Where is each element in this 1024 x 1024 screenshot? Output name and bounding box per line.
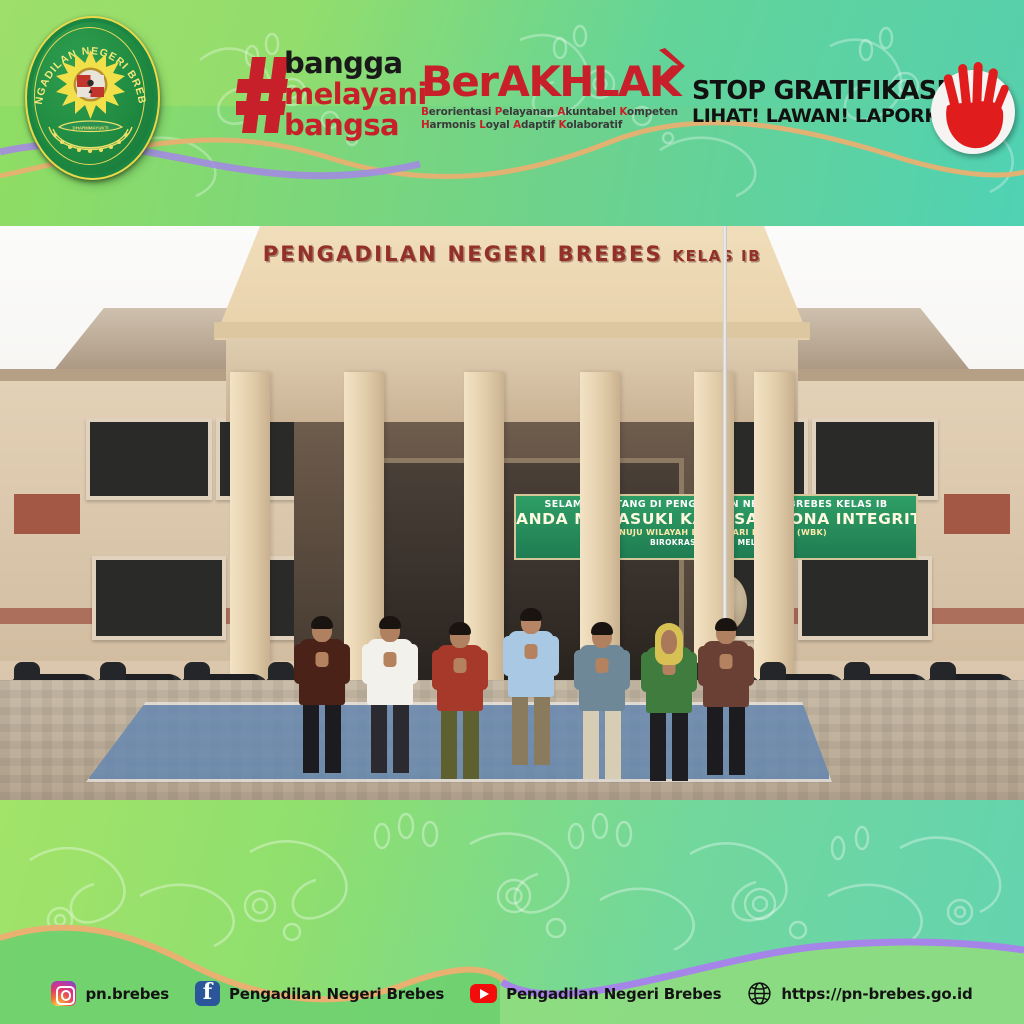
pediment-edge xyxy=(214,322,810,338)
social-link-facebook[interactable]: Pengadilan Negeri Brebes xyxy=(195,981,444,1006)
social-links-bar: pn.brebes Pengadilan Negeri Brebes Penga… xyxy=(0,981,1024,1006)
berakhlak-sub-line-2: Harmonis Loyal Adaptif Kolaboratif xyxy=(421,119,681,132)
person-legs xyxy=(512,695,550,765)
person-thumbs-up-hand xyxy=(384,652,397,667)
berakhlak-title: BerAKHLAK xyxy=(421,60,681,104)
footer-wave xyxy=(0,904,1024,1024)
person-legs xyxy=(583,709,621,779)
youtube-label: Pengadilan Negeri Brebes xyxy=(506,985,721,1003)
facebook-label: Pengadilan Negeri Brebes xyxy=(229,985,444,1003)
person-arm-right xyxy=(407,644,418,684)
person-arm-left xyxy=(362,644,373,684)
social-link-youtube[interactable]: Pengadilan Negeri Brebes xyxy=(470,984,721,1003)
person-head xyxy=(661,630,677,654)
person-arm-left xyxy=(641,652,652,692)
person-arm-right xyxy=(477,650,488,690)
logo-sunburst-icon xyxy=(56,50,125,119)
globe-icon[interactable] xyxy=(747,981,772,1006)
person-thumbs-up-hand xyxy=(720,654,733,669)
person-arm-left xyxy=(698,646,709,686)
red-handprint-icon xyxy=(933,62,1013,154)
window-upper-right-1 xyxy=(812,418,938,500)
social-link-instagram[interactable]: pn.brebes xyxy=(51,981,168,1006)
berakhlak-sub-line-1: Berorientasi Pelayanan Akuntabel Kompete… xyxy=(421,106,681,119)
hashtag-icon xyxy=(236,55,288,135)
wall-accent-right xyxy=(944,494,1010,534)
person-7-batik-brown xyxy=(700,620,752,786)
window-upper-left-1 xyxy=(86,418,212,500)
facebook-icon[interactable] xyxy=(195,981,220,1006)
person-thumbs-up-hand xyxy=(316,652,329,667)
person-hair xyxy=(715,618,737,631)
berakhlak-subtitle: Berorientasi Pelayanan Akuntabel Kompete… xyxy=(421,106,681,131)
bangga-line-3: bangsa xyxy=(284,110,427,141)
person-2-white-shirt xyxy=(364,618,416,786)
logo-chain-wreath xyxy=(45,123,136,163)
person-arm-right xyxy=(339,644,350,684)
person-arm-right xyxy=(743,646,754,686)
person-6-hijab-green xyxy=(643,626,695,786)
person-legs xyxy=(650,711,688,781)
building-name: PENGADILAN NEGERI BREBES xyxy=(263,242,663,266)
poster-header: PENGADILAN NEGERI BREBES DHARMMAYUKTI xyxy=(0,0,1024,226)
wall-accent-left xyxy=(14,494,80,534)
person-5-batik-blue xyxy=(576,624,628,786)
person-4-blue-shirt xyxy=(505,610,557,786)
person-legs xyxy=(441,709,479,779)
social-media-poster: PENGADILAN NEGERI BREBES DHARMMAYUKTI xyxy=(0,0,1024,1024)
bangga-line-2: melayani xyxy=(284,79,427,110)
person-arm-left xyxy=(432,650,443,690)
building-sign: PENGADILAN NEGERI BREBES KELAS IB xyxy=(214,242,810,266)
person-arm-right xyxy=(619,650,630,690)
main-photo: PENGADILAN NEGERI BREBES KELAS IB SELAMA… xyxy=(0,226,1024,800)
bangga-line-1: bangga xyxy=(284,48,427,79)
building-class: KELAS IB xyxy=(672,247,761,265)
person-hair xyxy=(520,608,542,621)
person-arm-right xyxy=(548,636,559,676)
person-hair xyxy=(379,616,401,629)
berakhlak-logo: BerAKHLAK Berorientasi Pelayanan Akuntab… xyxy=(421,60,681,155)
person-1-batik-dark xyxy=(296,618,348,786)
person-arm-left xyxy=(294,644,305,684)
person-legs xyxy=(707,705,745,775)
handprint-badge xyxy=(931,66,1019,154)
person-legs xyxy=(371,703,409,773)
person-arm-left xyxy=(503,636,514,676)
person-thumbs-up-hand xyxy=(454,658,467,673)
youtube-icon[interactable] xyxy=(470,984,497,1003)
bangga-text-lines: bangga melayani bangsa xyxy=(284,48,427,141)
person-arm-left xyxy=(574,650,585,690)
person-thumbs-up-hand xyxy=(596,658,609,673)
website-label: https://pn-brebes.go.id xyxy=(781,985,972,1003)
chevron-right-icon xyxy=(653,48,687,88)
person-hair xyxy=(311,616,333,629)
court-logo: PENGADILAN NEGERI BREBES DHARMMAYUKTI xyxy=(25,16,164,184)
poster-footer: pn.brebes Pengadilan Negeri Brebes Penga… xyxy=(0,800,1024,1024)
person-hair xyxy=(449,622,471,635)
person-arm-right xyxy=(686,652,697,692)
person-3-batik-red xyxy=(434,624,486,786)
person-thumbs-up-hand xyxy=(525,644,538,659)
person-hair xyxy=(591,622,613,635)
bangga-melayani-bangsa-logo: bangga melayani bangsa xyxy=(236,50,416,150)
instagram-icon[interactable] xyxy=(51,981,76,1006)
person-legs xyxy=(303,703,341,773)
instagram-label: pn.brebes xyxy=(85,985,168,1003)
social-link-website[interactable]: https://pn-brebes.go.id xyxy=(747,981,972,1006)
